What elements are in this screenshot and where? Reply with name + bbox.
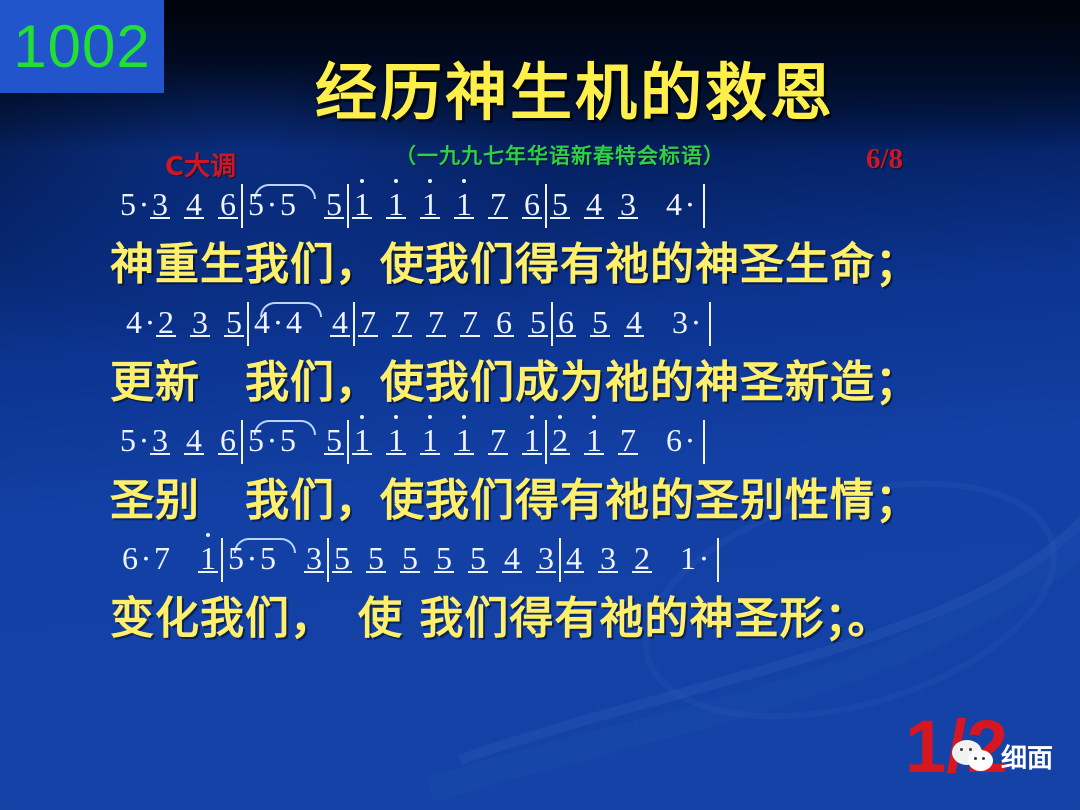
measure: 2176· xyxy=(552,422,698,459)
note: 6 xyxy=(666,423,682,457)
dotted-duration-dot: · xyxy=(696,540,712,577)
note: 1 xyxy=(422,423,438,457)
wechat-icon xyxy=(952,740,998,774)
note: 6 xyxy=(122,541,138,575)
note: 7 xyxy=(360,305,376,339)
note: 3 xyxy=(152,423,168,457)
lyric-line: 圣别 我们，使我们得有祂的圣别性情； xyxy=(0,472,1080,534)
note: 5 xyxy=(470,541,486,575)
notation-line: 4·2354·447777656543· xyxy=(0,304,1080,354)
barline xyxy=(703,184,705,228)
measure: 5·55 xyxy=(248,186,342,223)
note: 3 xyxy=(192,305,208,339)
note: 5 xyxy=(326,187,342,221)
note: 5 xyxy=(592,305,608,339)
note: 4 xyxy=(286,305,302,339)
note: 5 xyxy=(530,305,546,339)
barline xyxy=(703,420,705,464)
measure: 4·44 xyxy=(254,304,348,341)
note: 3 xyxy=(538,541,554,575)
note: 3 xyxy=(600,541,616,575)
note: 5 xyxy=(260,541,276,575)
note: 1 xyxy=(388,187,404,221)
lyric-line: 神重生我们，使我们得有祂的神圣生命； xyxy=(0,236,1080,298)
note: 1 xyxy=(586,423,602,457)
note: 2 xyxy=(552,423,568,457)
measure: 5434· xyxy=(552,186,698,223)
note: 1 xyxy=(354,187,370,221)
score-verse: 6·715·5355555434321·变化我们， 使 我们得有祂的神圣形；。 xyxy=(0,540,1080,652)
note: 5 xyxy=(368,541,384,575)
note: 7 xyxy=(394,305,410,339)
note: 5 xyxy=(326,423,342,457)
music-score: 5·3465·551111765434·神重生我们，使我们得有祂的神圣生命；4·… xyxy=(0,186,1080,658)
barline xyxy=(247,302,249,346)
note: 5 xyxy=(120,187,136,221)
page-title: 经历神生机的救恩 xyxy=(0,42,1080,132)
note: 5 xyxy=(280,187,296,221)
measure: 4321· xyxy=(566,540,712,577)
page-subtitle: （一九九七年华语新春特会标语） xyxy=(0,140,1080,170)
hymn-slide: 1002 经历神生机的救恩 （一九九七年华语新春特会标语） C大调 6/8 5·… xyxy=(0,0,1080,810)
note: 1 xyxy=(422,187,438,221)
lyric-line: 变化我们， 使 我们得有祂的神圣形；。 xyxy=(0,590,1080,652)
notation-line: 5·3465·551111712176· xyxy=(0,422,1080,472)
note: 5 xyxy=(120,423,136,457)
measure: 777765 xyxy=(360,304,546,341)
notation-line: 6·715·5355555434321· xyxy=(0,540,1080,590)
note: 7 xyxy=(428,305,444,339)
key-signature: C大调 xyxy=(165,146,236,183)
measure: 5·346 xyxy=(120,422,236,459)
dotted-duration-dot: · xyxy=(138,540,154,577)
note: 3 xyxy=(306,541,322,575)
note: 5 xyxy=(436,541,452,575)
dotted-duration-dot: · xyxy=(688,304,704,341)
note: 5 xyxy=(280,423,296,457)
note: 7 xyxy=(154,541,170,575)
score-verse: 4·2354·447777656543·更新 我们，使我们成为祂的神圣新造； xyxy=(0,304,1080,416)
note: 7 xyxy=(490,187,506,221)
score-verse: 5·3465·551111712176·圣别 我们，使我们得有祂的圣别性情； xyxy=(0,422,1080,534)
note: 2 xyxy=(634,541,650,575)
note: 1 xyxy=(456,187,472,221)
measure: 111171 xyxy=(354,422,540,459)
note: 7 xyxy=(462,305,478,339)
barline xyxy=(353,302,355,346)
wechat-account-name: 细面 xyxy=(1001,738,1053,775)
note: 5 xyxy=(248,423,264,457)
notation-line: 5·3465·551111765434· xyxy=(0,186,1080,236)
dotted-duration-dot: · xyxy=(682,422,698,459)
barline xyxy=(241,420,243,464)
note: 6 xyxy=(220,187,236,221)
note: 4 xyxy=(626,305,642,339)
measure: 5·346 xyxy=(120,186,236,223)
note: 6 xyxy=(496,305,512,339)
note: 5 xyxy=(334,541,350,575)
dotted-duration-dot: · xyxy=(682,186,698,223)
note: 5 xyxy=(552,187,568,221)
measure: 6543· xyxy=(558,304,704,341)
note: 5 xyxy=(248,187,264,221)
measure: 6·71 xyxy=(122,540,216,577)
note: 3 xyxy=(672,305,688,339)
measure: 111176 xyxy=(354,186,540,223)
note: 5 xyxy=(226,305,242,339)
note: 4 xyxy=(254,305,270,339)
barline xyxy=(221,538,223,582)
measure: 5·55 xyxy=(248,422,342,459)
note: 4 xyxy=(666,187,682,221)
note: 4 xyxy=(186,187,202,221)
barline xyxy=(551,302,553,346)
wechat-watermark: 细面 xyxy=(952,738,1053,775)
note: 4 xyxy=(332,305,348,339)
time-signature: 6/8 xyxy=(866,143,903,176)
note: 1 xyxy=(354,423,370,457)
note: 1 xyxy=(524,423,540,457)
note: 1 xyxy=(388,423,404,457)
note: 4 xyxy=(186,423,202,457)
note: 3 xyxy=(620,187,636,221)
measure: 4·235 xyxy=(126,304,242,341)
note: 7 xyxy=(620,423,636,457)
note: 4 xyxy=(126,305,142,339)
note: 4 xyxy=(566,541,582,575)
barline xyxy=(347,420,349,464)
note: 7 xyxy=(490,423,506,457)
lyric-line: 更新 我们，使我们成为祂的神圣新造； xyxy=(0,354,1080,416)
measure: 5555543 xyxy=(334,540,554,577)
barline xyxy=(559,538,561,582)
note: 2 xyxy=(158,305,174,339)
note: 5 xyxy=(228,541,244,575)
barline xyxy=(347,184,349,228)
note: 6 xyxy=(558,305,574,339)
barline xyxy=(717,538,719,582)
note: 5 xyxy=(402,541,418,575)
note: 6 xyxy=(220,423,236,457)
note: 4 xyxy=(586,187,602,221)
barline xyxy=(241,184,243,228)
note: 6 xyxy=(524,187,540,221)
barline xyxy=(545,184,547,228)
barline xyxy=(709,302,711,346)
measure: 5·53 xyxy=(228,540,322,577)
note: 1 xyxy=(200,541,216,575)
note: 4 xyxy=(504,541,520,575)
score-verse: 5·3465·551111765434·神重生我们，使我们得有祂的神圣生命； xyxy=(0,186,1080,298)
note: 1 xyxy=(456,423,472,457)
barline xyxy=(327,538,329,582)
note: 1 xyxy=(680,541,696,575)
barline xyxy=(545,420,547,464)
note: 3 xyxy=(152,187,168,221)
